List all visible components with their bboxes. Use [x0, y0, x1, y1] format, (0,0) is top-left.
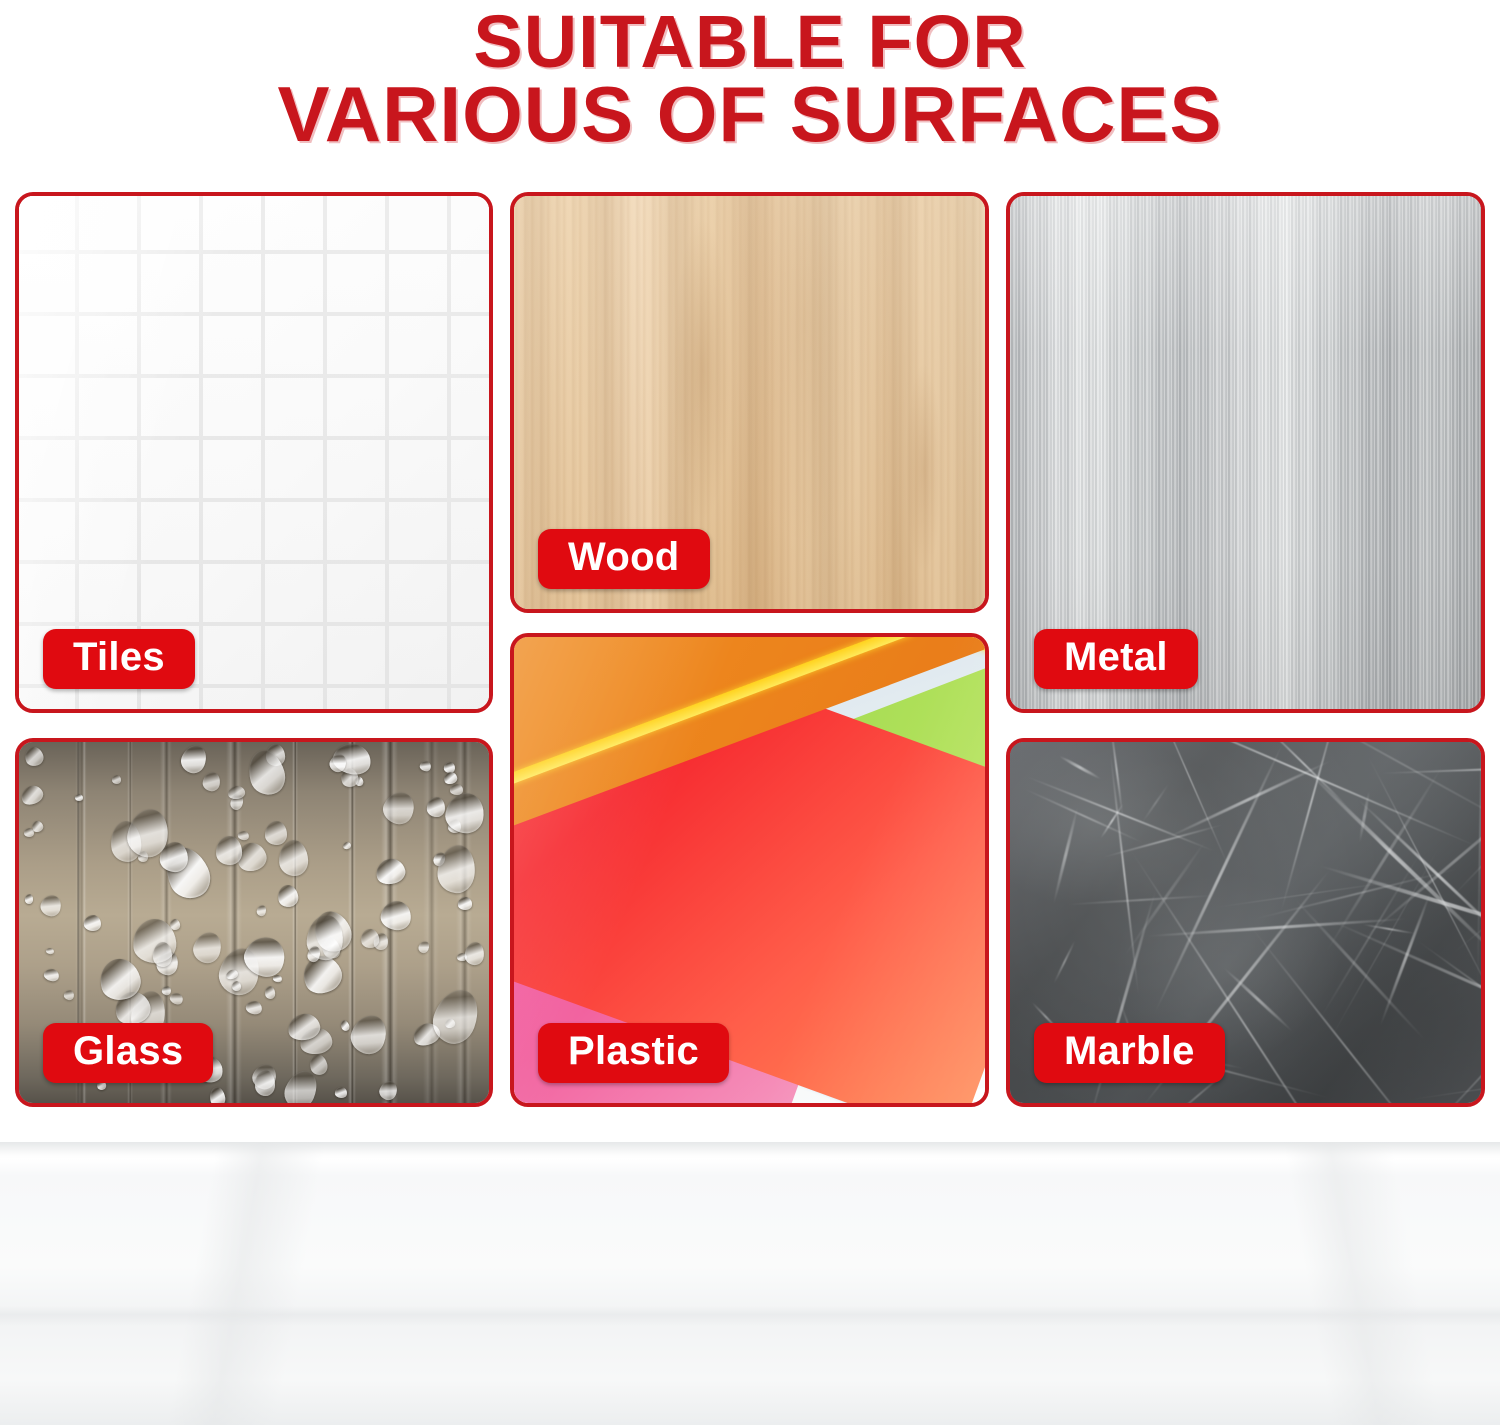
marble-vein	[1052, 806, 1079, 905]
marble-vein	[1058, 754, 1102, 780]
water-droplet	[83, 915, 101, 932]
marble-vein	[1379, 890, 1432, 1027]
water-droplet	[342, 841, 352, 851]
surface-card-wood: Wood	[510, 192, 989, 613]
surface-card-glass: Glass	[15, 738, 493, 1107]
water-droplet	[339, 1019, 351, 1033]
marble-vein	[1222, 966, 1293, 1032]
surface-card-metal: Metal	[1006, 192, 1485, 713]
water-droplet	[238, 830, 250, 841]
surface-card-tiles: Tiles	[15, 192, 493, 713]
surface-label-plastic: Plastic	[538, 1023, 729, 1083]
water-droplet	[245, 1000, 263, 1016]
water-droplet	[463, 941, 484, 966]
water-droplet	[265, 821, 287, 845]
product-infographic: SUITABLE FOR VARIOUS OF SURFACES Tiles W…	[0, 0, 1500, 1425]
marble-vein	[1146, 738, 1232, 874]
water-droplet	[202, 771, 222, 793]
water-droplet	[63, 989, 75, 1001]
water-droplet	[346, 1010, 391, 1058]
water-droplet	[417, 939, 431, 954]
surface-card-marble: Marble	[1006, 738, 1485, 1107]
surface-label-tiles: Tiles	[43, 629, 195, 689]
water-droplet	[74, 794, 82, 801]
water-droplet	[379, 787, 419, 828]
water-droplet	[25, 894, 33, 904]
water-droplet	[38, 892, 63, 918]
water-droplet	[427, 797, 446, 817]
marble-vein	[1153, 740, 1285, 1014]
page-title: SUITABLE FOR VARIOUS OF SURFACES	[0, 6, 1500, 152]
water-droplet	[111, 775, 120, 784]
countertop-backdrop	[0, 1142, 1500, 1425]
water-droplet	[19, 782, 47, 808]
water-droplet	[42, 967, 60, 983]
surface-label-glass: Glass	[43, 1023, 213, 1083]
water-droplet	[377, 1078, 400, 1102]
water-droplet	[436, 843, 477, 895]
water-droplet	[360, 928, 380, 949]
water-droplet	[189, 929, 225, 967]
water-droplet	[335, 1087, 348, 1099]
surface-card-plastic: Plastic	[510, 633, 989, 1107]
marble-vein	[1293, 897, 1426, 1041]
marble-vein	[1053, 940, 1077, 985]
water-droplet	[46, 948, 55, 956]
water-droplet	[168, 991, 184, 1006]
marble-vein-major	[1298, 760, 1485, 968]
water-droplet	[256, 904, 267, 917]
water-droplet	[153, 942, 172, 967]
glass-run-streak	[292, 738, 298, 1107]
water-droplet	[419, 760, 432, 772]
water-droplet	[374, 856, 408, 887]
water-droplet	[450, 784, 463, 795]
water-droplet	[254, 1070, 274, 1096]
water-droplet	[23, 745, 46, 768]
surface-label-metal: Metal	[1034, 629, 1198, 689]
marble-vein	[1380, 764, 1485, 774]
page-title-line-1: SUITABLE FOR	[0, 6, 1500, 77]
marble-vein	[1066, 894, 1216, 905]
water-droplet	[379, 899, 413, 933]
water-droplet	[278, 840, 309, 878]
page-title-line-2: VARIOUS OF SURFACES	[0, 77, 1500, 152]
glass-run-streak	[348, 738, 356, 1107]
surface-label-wood: Wood	[538, 529, 710, 589]
water-droplet	[458, 896, 473, 909]
water-droplet	[264, 986, 275, 1000]
water-droplet	[276, 884, 299, 909]
marble-vein	[1477, 738, 1484, 992]
water-droplet	[161, 985, 171, 996]
water-droplet	[216, 836, 243, 866]
glass-run-streak	[423, 738, 439, 1107]
water-droplet	[178, 741, 210, 775]
surface-grid: Tiles Wood Metal Glass	[15, 192, 1485, 1107]
marble-vein	[1142, 783, 1170, 823]
water-droplet	[209, 1086, 227, 1107]
surface-label-marble: Marble	[1034, 1023, 1225, 1083]
